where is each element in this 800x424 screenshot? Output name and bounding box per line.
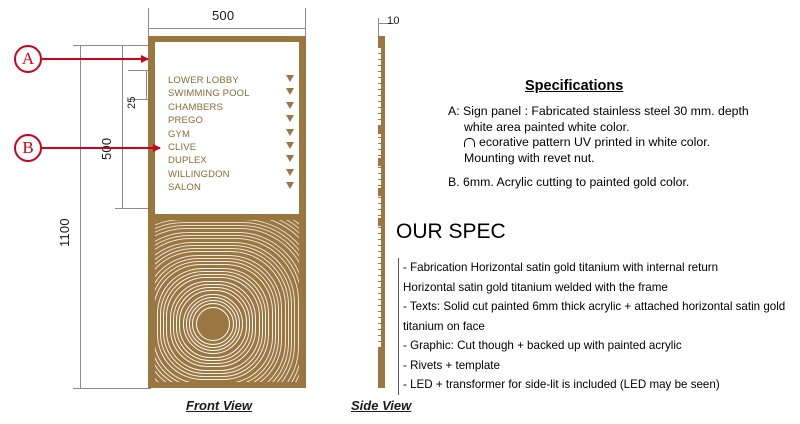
directory-label: WILLINGDON (168, 169, 230, 180)
spec-spacer (448, 166, 778, 175)
side-view-sign (378, 36, 385, 388)
directory-label: LOWER LOBBY (168, 75, 239, 86)
our-spec-line: - Texts: Solid cut painted 6mm thick acr… (403, 297, 790, 317)
down-triangle-icon (286, 129, 294, 136)
sign-panel-white-area: LOWER LOBBY SWIMMING POOL CHAMBERS PREGO… (155, 42, 299, 214)
dim-line-panel-500 (122, 45, 123, 208)
dim-line-width-500 (148, 28, 306, 29)
spec-line-b1: B. 6mm. Acrylic cutting to painted gold … (448, 175, 778, 191)
specifications-body: A: Sign panel : Fabricated stainless ste… (448, 104, 778, 191)
callout-leader-b (42, 147, 160, 149)
dim-label-row-pitch: 25 (126, 96, 138, 109)
down-triangle-icon (286, 102, 294, 109)
callout-marker-a: A (14, 45, 42, 73)
down-triangle-icon (286, 88, 294, 95)
callout-marker-b: B (14, 134, 42, 162)
our-spec-line: titanium on face (403, 317, 790, 337)
spec-line-a3-text: ecorative pattern UV printed in white co… (479, 135, 710, 149)
specifications-title: Specifications (525, 78, 623, 94)
our-spec-line: - Fabrication Horizontal satin gold tita… (403, 258, 790, 278)
dim-label-total-height: 1100 (57, 218, 72, 247)
directory-label: SWIMMING POOL (168, 88, 250, 99)
our-spec-line: Horizontal satin gold titanium welded wi… (403, 278, 790, 298)
down-triangle-icon (286, 155, 294, 162)
decorative-pattern (155, 220, 299, 382)
list-item: SALON (168, 179, 300, 192)
side-edge-detail (378, 48, 381, 348)
dim-ext-left-top (148, 8, 149, 38)
list-item: DUPLEX (168, 152, 300, 165)
dim-label-width: 500 (212, 8, 234, 23)
side-notch (378, 218, 381, 226)
down-triangle-icon (286, 75, 294, 82)
our-spec-list: - Fabrication Horizontal satin gold tita… (398, 258, 790, 395)
down-triangle-icon (286, 169, 294, 176)
list-item: SWIMMING POOL (168, 85, 300, 98)
dim-ext-base-bottom (73, 388, 151, 389)
directory-label: CLIVE (168, 142, 196, 153)
dim-ext-right-top (305, 8, 306, 38)
list-item: PREGO (168, 112, 300, 125)
directory-label: DUPLEX (168, 155, 207, 166)
list-item: LOWER LOBBY (168, 72, 300, 85)
list-item: WILLINGDON (168, 166, 300, 179)
our-spec-title: OUR SPEC (396, 220, 506, 244)
front-view-sign: LOWER LOBBY SWIMMING POOL CHAMBERS PREGO… (148, 36, 306, 388)
side-notch (378, 126, 381, 134)
side-notch (378, 188, 381, 196)
directory-label: CHAMBERS (168, 102, 223, 113)
spec-line-a4: Mounting with revet nut. (448, 151, 778, 167)
callout-leader-a (42, 58, 148, 60)
dim-ext-panel-top (73, 45, 151, 46)
spec-line-a1: A: Sign panel : Fabricated stainless ste… (448, 104, 778, 120)
directory-label: SALON (168, 182, 201, 193)
dim-ext-side-left (378, 18, 379, 38)
dim-label-panel-height: 500 (99, 138, 114, 160)
dim-label-thickness: 10 (387, 15, 400, 27)
list-item: CLIVE (168, 139, 300, 152)
dim-line-pitch-25 (146, 70, 147, 99)
side-notch (378, 158, 381, 166)
down-triangle-icon (286, 142, 294, 149)
front-view-caption: Front View (186, 398, 252, 413)
list-item: GYM (168, 126, 300, 139)
d-cap-glyph (464, 138, 475, 147)
spec-line-a2: white area painted white color. (448, 120, 778, 136)
down-triangle-icon (286, 115, 294, 122)
directory-list: LOWER LOBBY SWIMMING POOL CHAMBERS PREGO… (168, 72, 300, 193)
down-triangle-icon (286, 182, 294, 189)
side-view-caption: Side View (351, 398, 411, 413)
technical-drawing-page: 500 1100 500 25 LOWER LOBBY SWIMMING POO… (0, 0, 800, 424)
directory-label: PREGO (168, 115, 203, 126)
our-spec-line: - Graphic: Cut though + backed up with p… (403, 336, 790, 356)
spec-line-a3: ecorative pattern UV printed in white co… (448, 135, 778, 151)
dim-line-height-1100 (80, 45, 81, 388)
directory-label: GYM (168, 129, 190, 140)
our-spec-line: - LED + transformer for side-lit is incl… (403, 375, 790, 395)
list-item: CHAMBERS (168, 99, 300, 112)
our-spec-line: - Rivets + template (403, 356, 790, 376)
